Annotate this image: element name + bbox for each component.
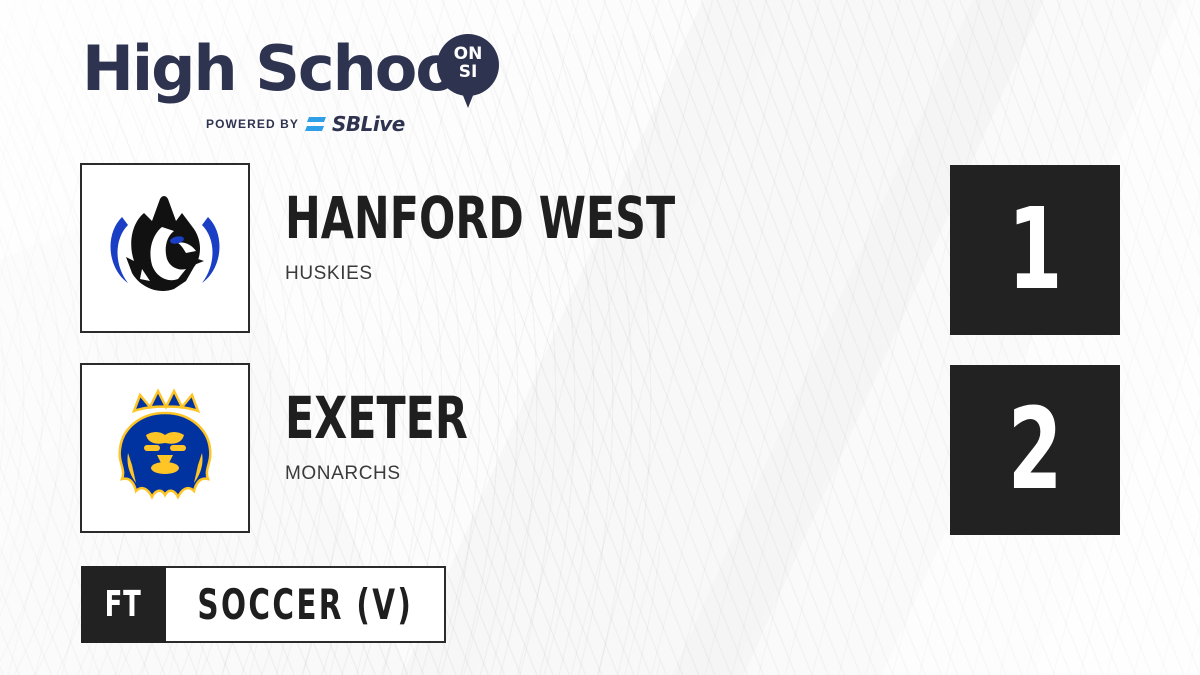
team-text-block: EXETER MONARCHS <box>285 389 985 485</box>
brand-wordmark: High School <box>82 36 475 102</box>
husky-head-logo-icon <box>82 165 248 331</box>
sport-label-panel: SOCCER (V) <box>166 566 446 643</box>
team-score: 1 <box>1008 194 1063 306</box>
team-score: 2 <box>1008 394 1063 506</box>
team-mascot: MONARCHS <box>285 463 985 485</box>
team-logo-tile <box>80 363 250 533</box>
powered-by-lockup: POWERED BY SBLive <box>206 112 405 136</box>
team-score-box: 2 <box>950 365 1120 535</box>
team-mascot: HUSKIES <box>285 263 985 285</box>
crowned-lion-logo-icon <box>82 365 248 531</box>
pin-label-line1: ON <box>437 45 499 63</box>
team-score-box: 1 <box>950 165 1120 335</box>
pin-label: ON SI <box>437 45 499 81</box>
team-logo-tile <box>80 163 250 333</box>
powered-by-label: POWERED BY <box>206 117 299 131</box>
sblive-wordmark: SBLive <box>332 112 405 136</box>
game-period-badge: FT <box>81 566 166 643</box>
pin-label-line2: SI <box>437 63 499 81</box>
team-name: EXETER <box>285 389 859 447</box>
on-si-pin-icon: ON SI <box>437 34 499 112</box>
sport-label: SOCCER (V) <box>197 584 413 626</box>
scoreboard-graphic: High School ON SI POWERED BY SBLive <box>0 0 1200 675</box>
game-period-label: FT <box>105 587 142 623</box>
team-name: HANFORD WEST <box>285 189 859 247</box>
sblive-s-icon <box>306 116 325 133</box>
team-text-block: HANFORD WEST HUSKIES <box>285 189 985 285</box>
game-status-bar: FT SOCCER (V) <box>81 566 446 643</box>
brand-lockup: High School ON SI POWERED BY SBLive <box>82 36 512 136</box>
